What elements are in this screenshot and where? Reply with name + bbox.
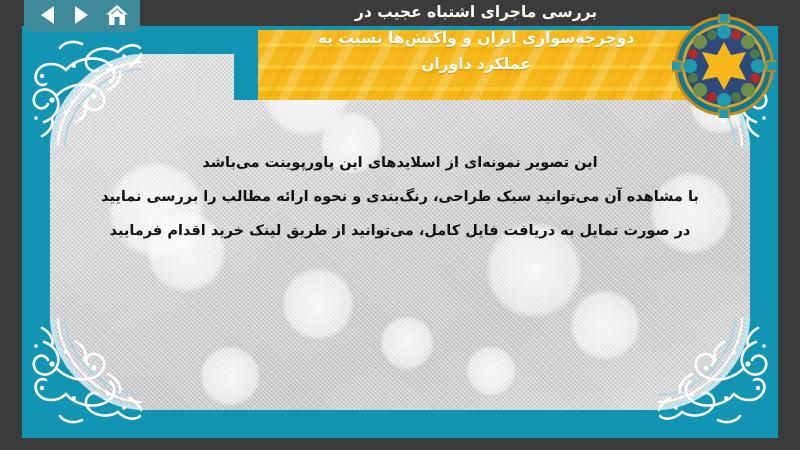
bokeh-circle: [570, 290, 640, 360]
slide-body-text: این تصویر نمونه‌ای از اسلایدهای این پاور…: [62, 146, 738, 248]
home-button[interactable]: [104, 3, 130, 27]
bokeh-circle: [380, 316, 434, 370]
back-arrow-icon: [41, 6, 54, 24]
forward-arrow-icon: [75, 6, 88, 24]
body-line-3: در صورت تمایل به دریافت فایل کامل، می‌تو…: [62, 214, 738, 248]
forward-button[interactable]: [69, 3, 95, 27]
navigation-bar: [24, 0, 140, 32]
home-icon: [105, 4, 129, 26]
arabesque-corner-ornament-bottom-right: [658, 318, 778, 438]
title-band-tab: [234, 30, 258, 100]
bokeh-circle: [282, 268, 354, 340]
arabesque-corner-ornament-top-left: [22, 26, 142, 146]
bokeh-circle: [466, 346, 516, 396]
arabesque-corner-ornament-bottom-left: [22, 318, 142, 438]
persian-medallion-icon: [672, 14, 776, 118]
body-line-2: با مشاهده آن می‌توانید سبک طراحی، رنگ‌بن…: [62, 180, 738, 214]
body-line-1: این تصویر نمونه‌ای از اسلایدهای این پاور…: [62, 146, 738, 180]
back-button[interactable]: [34, 3, 60, 27]
bokeh-circle: [200, 346, 260, 406]
title-line-1: بررسی ماجرای اشتباه عجیب در: [246, 0, 706, 25]
